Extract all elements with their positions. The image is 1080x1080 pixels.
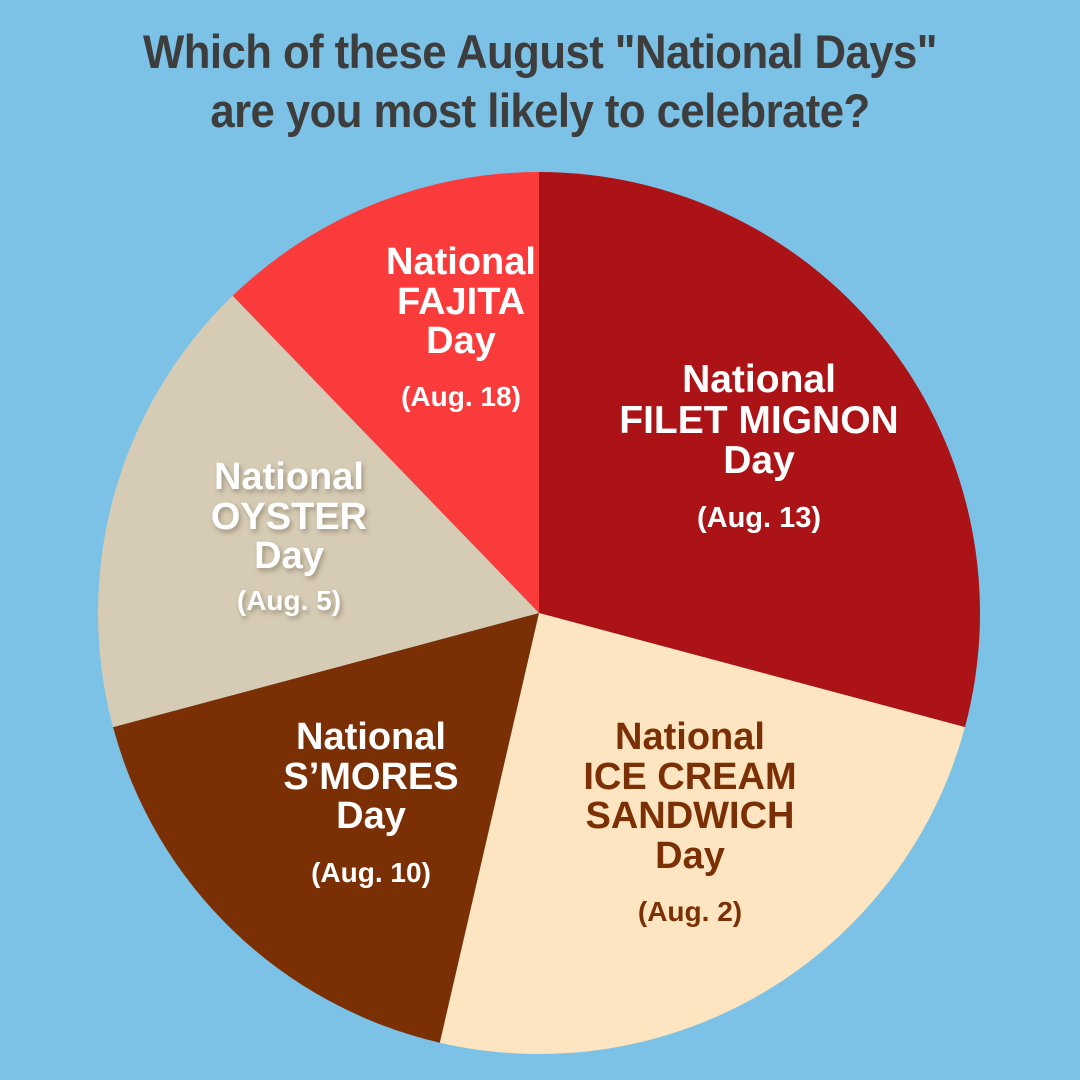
pie-chart: National FILET MIGNON Day (Aug. 13) Nati… xyxy=(0,0,1080,1080)
poll-poster: Which of these August "National Days" ar… xyxy=(0,0,1080,1080)
pie-chart-svg xyxy=(0,0,1080,1080)
